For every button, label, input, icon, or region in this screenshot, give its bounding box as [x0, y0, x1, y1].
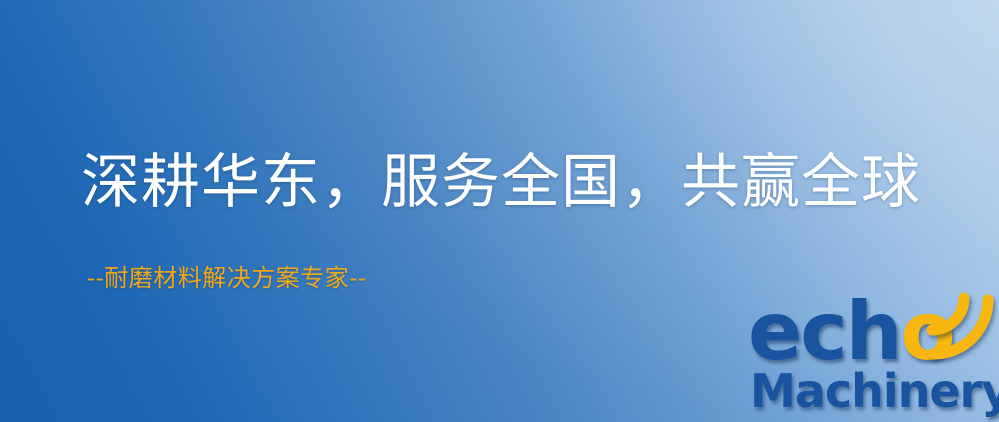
hero-banner: 深耕华东，服务全国，共赢全球 --耐磨材料解决方案专家-- echo Machi… — [0, 0, 999, 422]
signal-waves-icon — [926, 290, 999, 362]
logo-subtext: Machinery® — [750, 368, 999, 414]
banner-subtitle: --耐磨材料解决方案专家-- — [87, 266, 366, 290]
echo-machinery-logo[interactable]: echo Machinery® — [744, 292, 999, 422]
logo-wordmark: echo — [748, 292, 954, 372]
logo-text-machinery: Machinery — [750, 364, 999, 418]
banner-headline: 深耕华东，服务全国，共赢全球 — [81, 152, 921, 211]
